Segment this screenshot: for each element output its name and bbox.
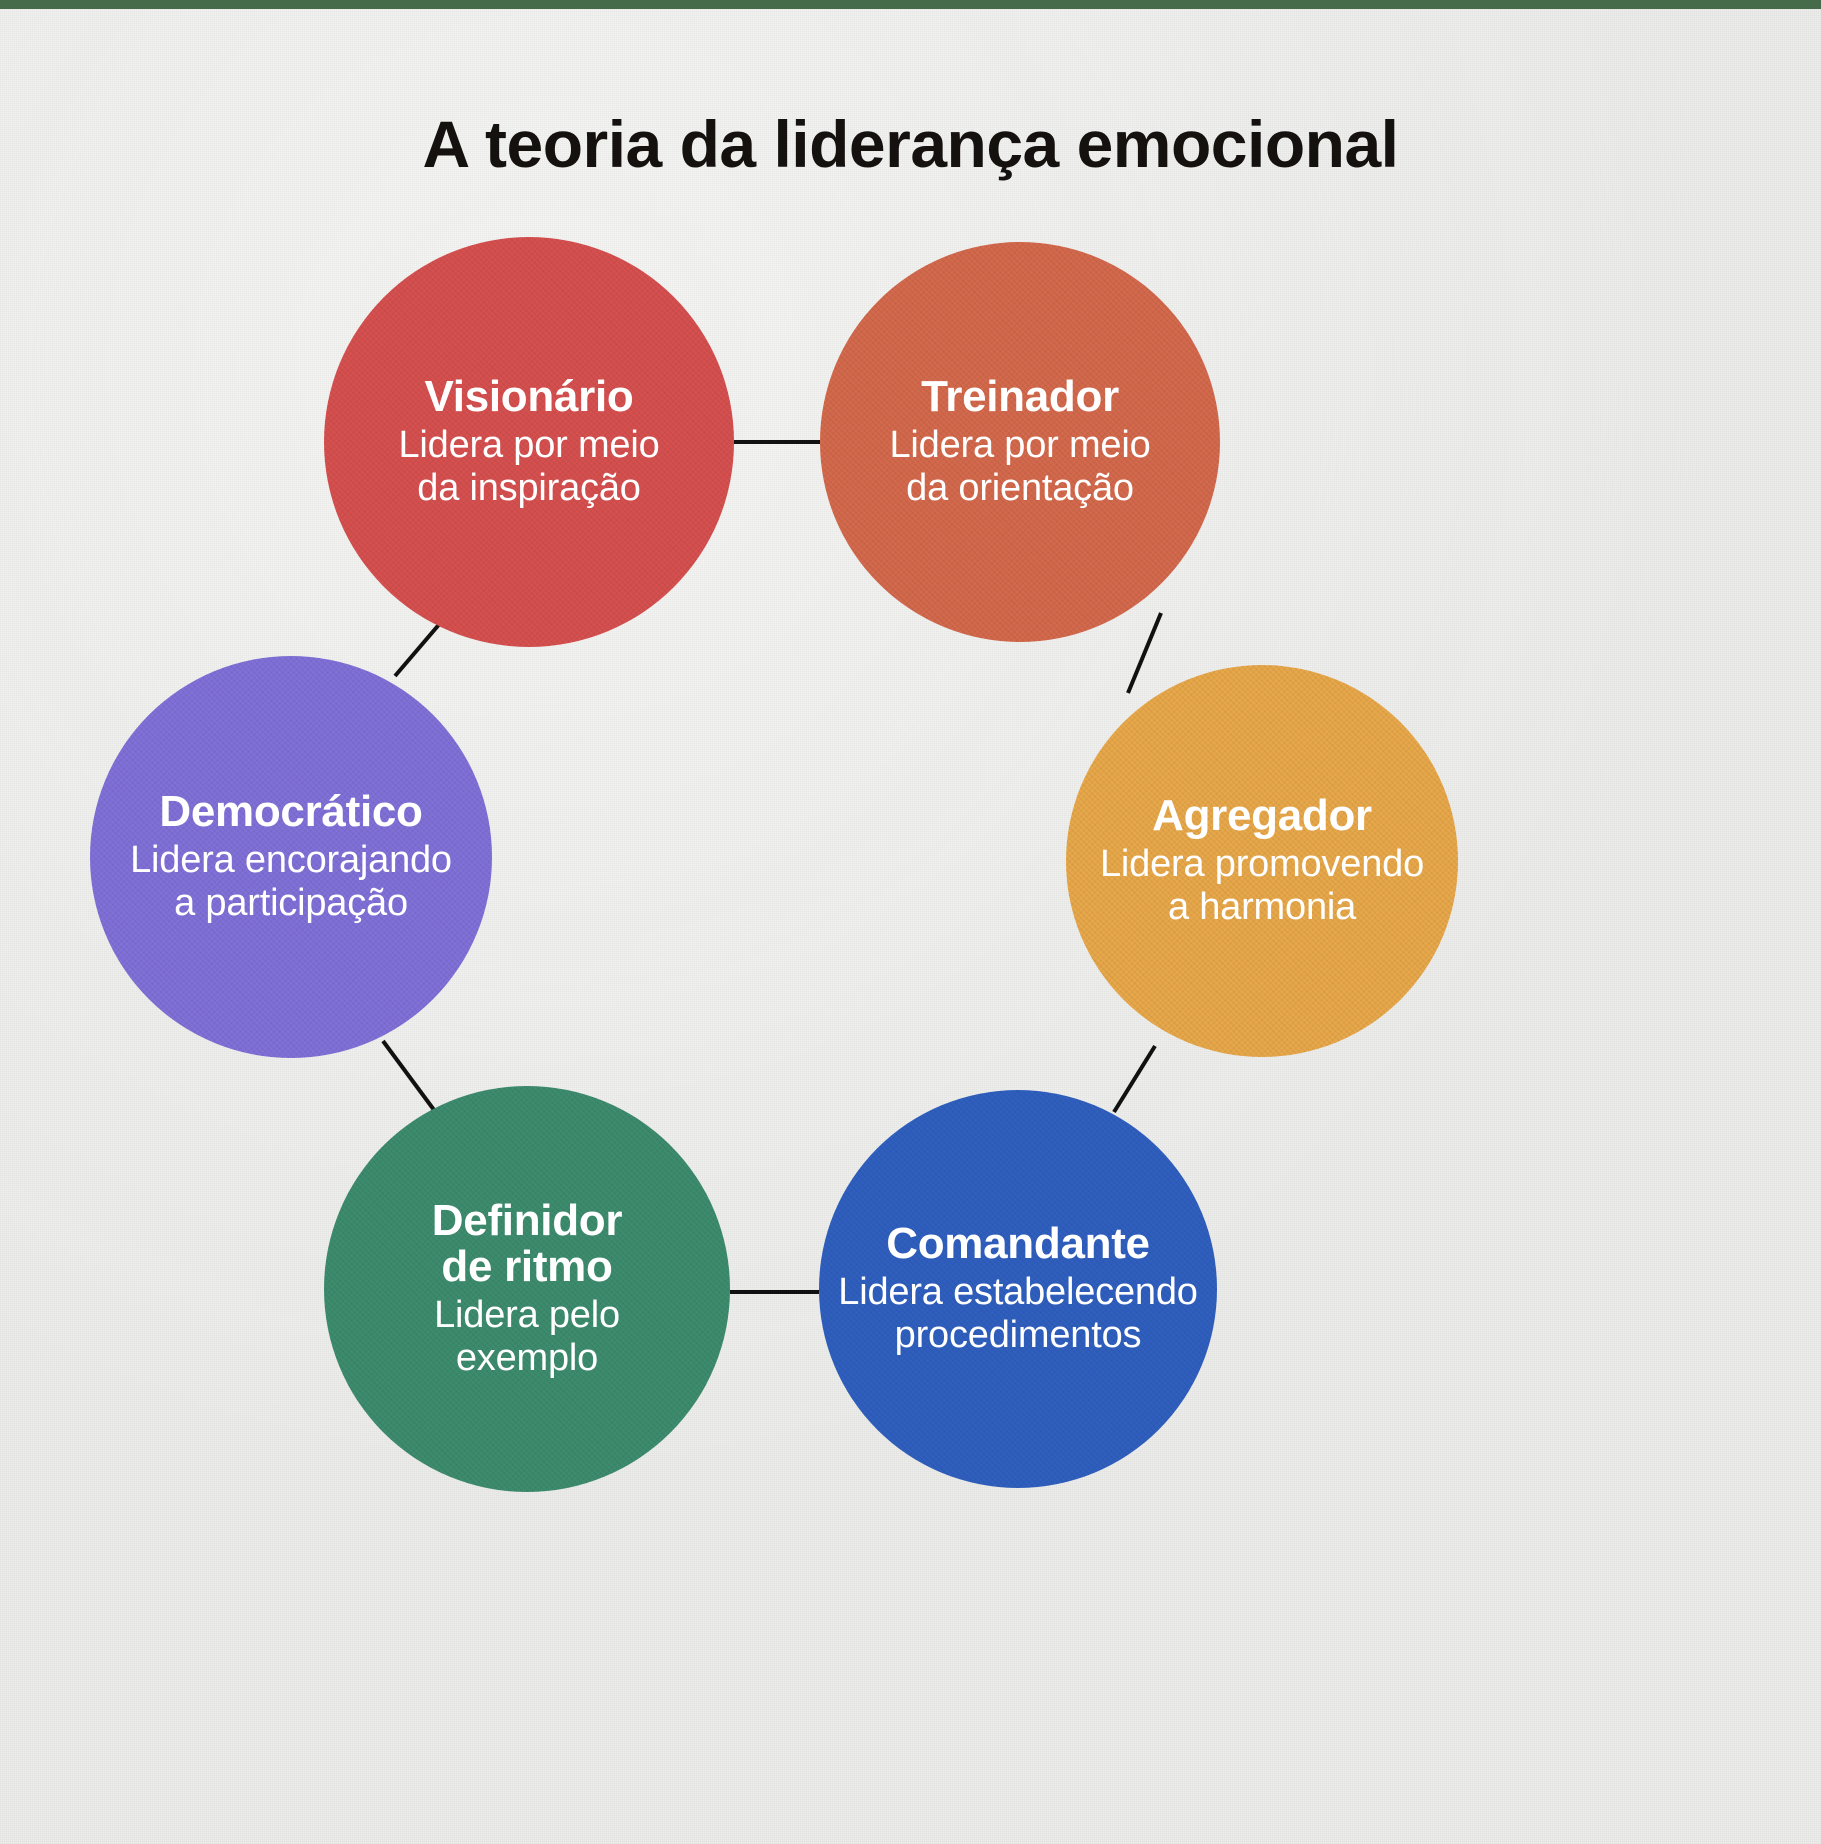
node-description: Lidera pelo exemplo bbox=[338, 1294, 716, 1381]
node-comandante[interactable]: ComandanteLidera estabelecendo procedime… bbox=[819, 1090, 1217, 1488]
node-title: Comandante bbox=[833, 1221, 1203, 1268]
connector-definidor-de-ritmo-to-democratico bbox=[383, 1041, 437, 1114]
page-title: A teoria da liderança emocional bbox=[0, 106, 1821, 182]
node-content: TreinadorLidera por meio da orientação bbox=[820, 374, 1220, 510]
node-visionario[interactable]: VisionárioLidera por meio da inspiração bbox=[324, 237, 734, 647]
node-title: Treinador bbox=[834, 374, 1206, 421]
node-content: DemocráticoLidera encorajando a particip… bbox=[90, 789, 492, 925]
node-content: Definidor de ritmoLidera pelo exemplo bbox=[324, 1198, 730, 1381]
node-definidor-de-ritmo[interactable]: Definidor de ritmoLidera pelo exemplo bbox=[324, 1086, 730, 1492]
node-description: Lidera promovendo a harmonia bbox=[1080, 843, 1444, 930]
node-content: ComandanteLidera estabelecendo procedime… bbox=[819, 1221, 1217, 1357]
connector-treinador-to-agregador bbox=[1128, 613, 1161, 693]
infographic-canvas: A teoria da liderança emocional Visionár… bbox=[0, 0, 1821, 1844]
node-content: VisionárioLidera por meio da inspiração bbox=[324, 374, 734, 510]
node-treinador[interactable]: TreinadorLidera por meio da orientação bbox=[820, 242, 1220, 642]
top-accent-bar bbox=[0, 0, 1821, 9]
node-agregador[interactable]: AgregadorLidera promovendo a harmonia bbox=[1066, 665, 1458, 1057]
node-democratico[interactable]: DemocráticoLidera encorajando a particip… bbox=[90, 656, 492, 1058]
node-description: Lidera por meio da inspiração bbox=[338, 424, 720, 511]
connector-agregador-to-comandante bbox=[1114, 1046, 1155, 1112]
node-title: Agregador bbox=[1080, 793, 1444, 840]
node-title: Visionário bbox=[338, 374, 720, 421]
node-title: Definidor de ritmo bbox=[338, 1198, 716, 1291]
node-content: AgregadorLidera promovendo a harmonia bbox=[1066, 793, 1458, 929]
node-description: Lidera encorajando a participação bbox=[104, 839, 478, 926]
node-description: Lidera estabelecendo procedimentos bbox=[833, 1271, 1203, 1358]
node-title: Democrático bbox=[104, 789, 478, 836]
node-description: Lidera por meio da orientação bbox=[834, 424, 1206, 511]
